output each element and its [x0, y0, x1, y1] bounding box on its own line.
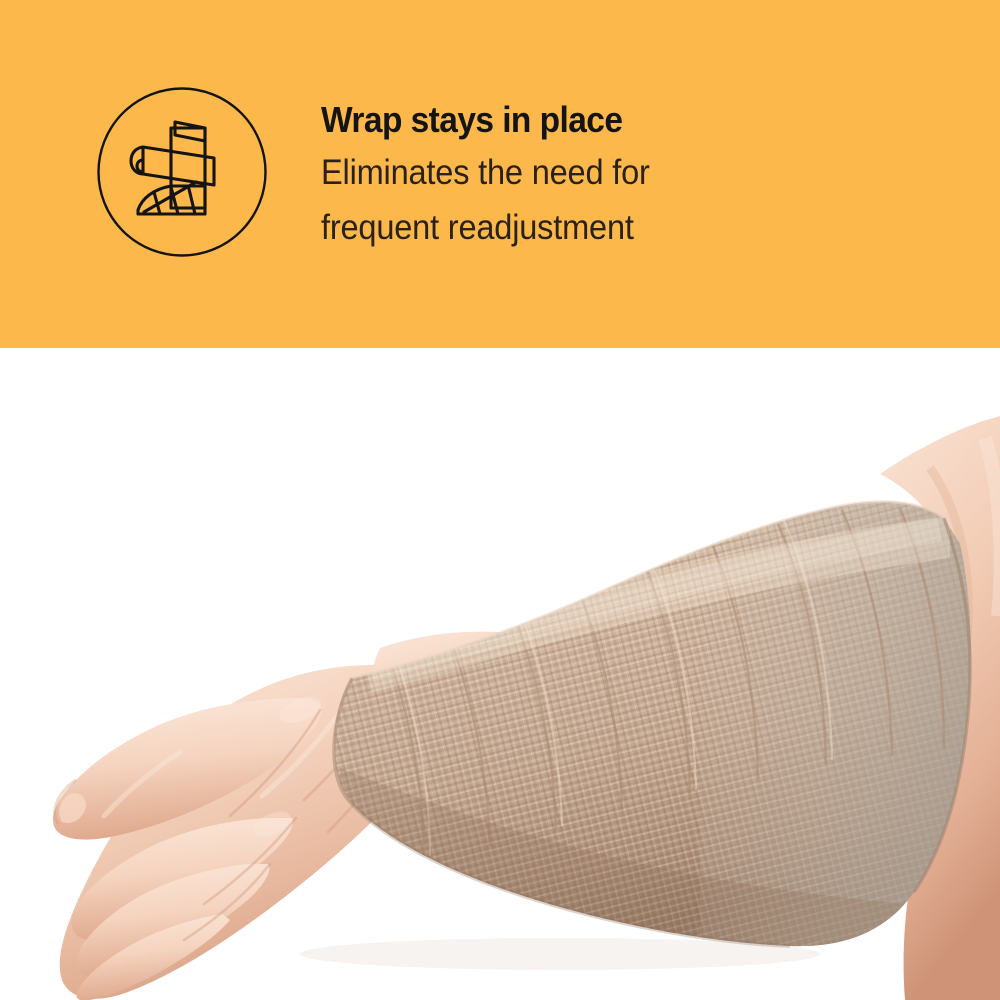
forearm-wrapped-in-cohesive-bandage-photo — [0, 348, 1000, 1000]
feature-headline: Wrap stays in place — [321, 98, 879, 142]
feature-subline-1: Eliminates the need for — [321, 145, 879, 200]
feature-text-block: Wrap stays in place Eliminates the need … — [321, 98, 921, 255]
bandaged-foot-in-circle-icon — [96, 86, 268, 258]
contact-shadow — [300, 938, 820, 970]
arm-illustration — [0, 348, 1000, 1000]
feature-banner: Wrap stays in place Eliminates the need … — [0, 0, 1000, 348]
product-feature-card: Wrap stays in place Eliminates the need … — [0, 0, 1000, 1000]
feature-subline-2: frequent readjustment — [321, 200, 879, 255]
